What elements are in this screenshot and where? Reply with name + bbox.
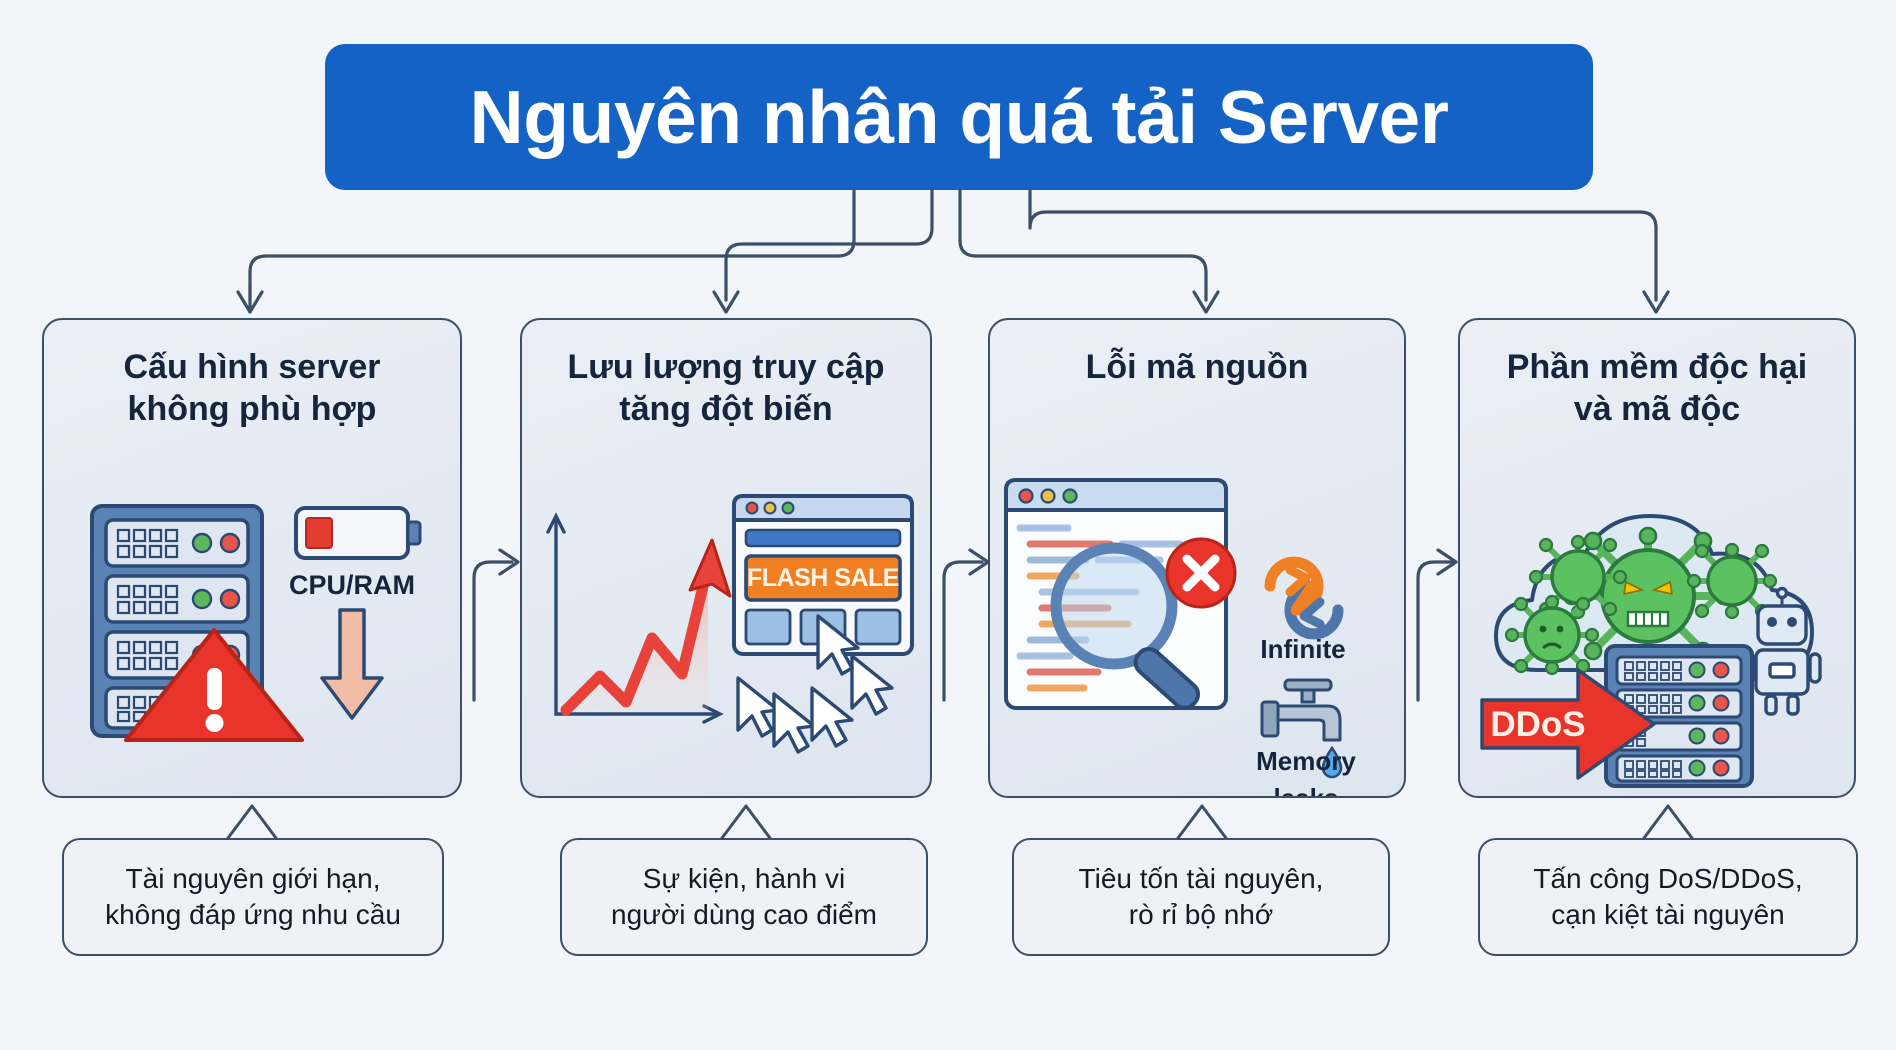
traffic-spike-chart (566, 540, 730, 710)
caption-source-code-error: Tiêu tốn tài nguyên, rò rỉ bộ nhớ (1012, 838, 1390, 956)
memory-leaks-label-2: leaks (1226, 783, 1386, 798)
caption-server-config: Tài nguyên giới hạn, không đáp ứng nhu c… (62, 838, 444, 956)
card-title-server-config: Cấu hình server không phù hợp (44, 346, 460, 430)
card-art-source-code-error: Infinite Memory leaks (990, 458, 1404, 788)
infinite-loop-icon (1270, 562, 1338, 634)
card-source-code-error[interactable]: Lỗi mã nguồn (988, 318, 1406, 798)
caption-malware: Tấn công DoS/DDoS, cạn kiệt tài nguyên (1478, 838, 1858, 956)
card-art-malware: DDoS (1460, 470, 1854, 790)
card-art-server-config: CPU/RAM (44, 478, 460, 778)
infinite-label: Infinite (1260, 634, 1345, 664)
caption-line-2: rò rỉ bộ nhớ (1129, 899, 1273, 930)
caption-line-2: người dùng cao điểm (611, 899, 877, 930)
page-title: Nguyên nhân quá tải Server (470, 74, 1449, 160)
card-title-traffic-spike: Lưu lượng truy cập tăng đột biến (522, 346, 930, 430)
ddos-label: DDoS (1490, 705, 1585, 744)
resource-down-arrow-icon (322, 610, 382, 718)
card-title-malware: Phần mềm độc hại và mã độc (1460, 346, 1854, 430)
card-server-config[interactable]: Cấu hình server không phù hợp (42, 318, 462, 798)
caption-line-1: Sự kiện, hành vi (643, 863, 845, 894)
caption-line-1: Tấn công DoS/DDoS, (1533, 863, 1802, 894)
card-traffic-spike[interactable]: Lưu lượng truy cập tăng đột biến (520, 318, 932, 798)
infographic-canvas: Nguyên nhân quá tải Server (0, 0, 1896, 1050)
card-malware[interactable]: Phần mềm độc hại và mã độc (1458, 318, 1856, 798)
card-title-source-code-error: Lỗi mã nguồn (990, 346, 1404, 388)
caption-line-2: không đáp ứng nhu cầu (105, 899, 401, 930)
cpu-ram-label: CPU/RAM (289, 570, 415, 600)
cpu-ram-battery-icon (296, 508, 420, 558)
page-title-banner: Nguyên nhân quá tải Server (325, 44, 1593, 190)
caption-line-2: cạn kiệt tài nguyên (1551, 899, 1785, 930)
caption-line-1: Tiêu tốn tài nguyên, (1079, 863, 1324, 894)
flash-sale-banner-text: FLASH SALE (747, 564, 899, 592)
caption-traffic-spike: Sự kiện, hành vi người dùng cao điểm (560, 838, 928, 956)
memory-leaks-label-1: Memory (1256, 746, 1356, 776)
caption-line-1: Tài nguyên giới hạn, (126, 863, 381, 894)
error-x-icon (1167, 539, 1235, 607)
card-art-traffic-spike: FLASH SALE (522, 478, 930, 778)
